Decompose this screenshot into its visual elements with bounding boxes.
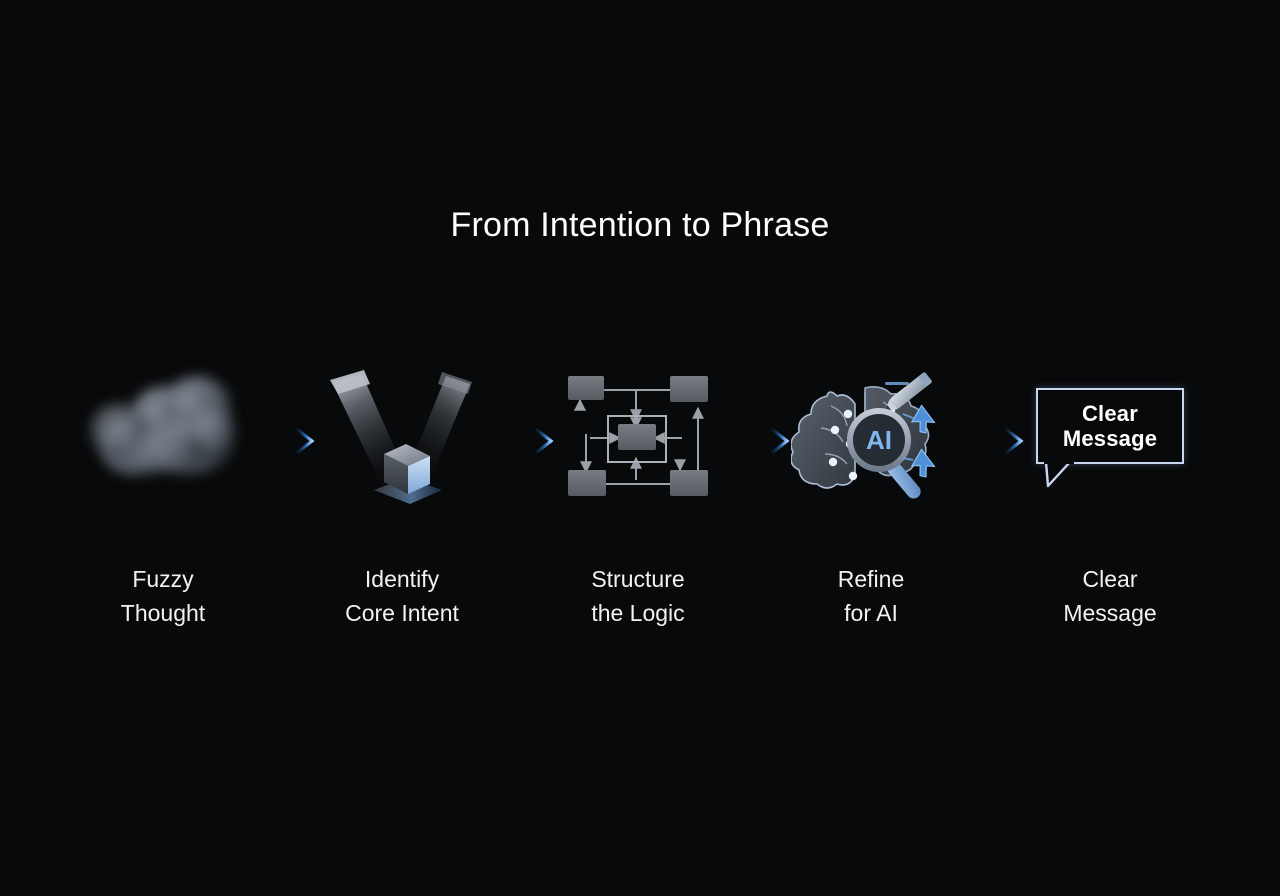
flow-labels: Fuzzy Thought Identify Core Intent Struc… [0, 562, 1280, 642]
right-arrow-icon [489, 424, 561, 458]
label-line-2: Thought [43, 596, 283, 630]
fuzzy-cloud-icon [83, 362, 243, 512]
speech-bubble-tail [1044, 462, 1078, 488]
brain-ai-magnifier-icon: AI [791, 362, 951, 512]
speech-bubble-icon: Clear Message [1030, 362, 1190, 512]
flow-label-fuzzy-thought: Fuzzy Thought [43, 562, 283, 630]
label-line-1: Clear [990, 562, 1230, 596]
flow-diagram: AI Clear [0, 362, 1280, 512]
ai-magnifier-label: AI [866, 425, 892, 455]
flow-label-structure-the-logic: Structure the Logic [518, 562, 758, 630]
speech-bubble-box: Clear Message [1036, 388, 1184, 464]
label-line-2: Core Intent [282, 596, 522, 630]
right-arrow-icon [250, 424, 322, 458]
flow-step-identify-core-intent[interactable] [322, 362, 482, 512]
flow-label-identify-core-intent: Identify Core Intent [282, 562, 522, 630]
label-line-1: Identify [282, 562, 522, 596]
flow-step-fuzzy-thought[interactable] [83, 362, 243, 512]
label-line-1: Structure [518, 562, 758, 596]
flow-label-clear-message: Clear Message [990, 562, 1230, 630]
flow-label-refine-for-ai: Refine for AI [751, 562, 991, 630]
flowchart-diagram-icon [558, 362, 718, 512]
speech-bubble-text: Clear Message [1038, 390, 1182, 462]
flow-step-refine-for-ai[interactable]: AI [791, 362, 951, 512]
slide-canvas: From Intention to Phrase [0, 0, 1280, 896]
page-title: From Intention to Phrase [0, 206, 1280, 245]
bubble-line-1: Clear [1082, 401, 1138, 426]
bubble-line-2: Message [1063, 426, 1157, 451]
label-line-2: the Logic [518, 596, 758, 630]
label-line-2: for AI [751, 596, 991, 630]
spotlight-cube-icon [322, 362, 482, 512]
label-line-1: Fuzzy [43, 562, 283, 596]
right-arrow-icon [725, 424, 797, 458]
right-arrow-icon [959, 424, 1031, 458]
label-line-2: Message [990, 596, 1230, 630]
flow-step-clear-message[interactable]: Clear Message [1030, 362, 1190, 512]
label-line-1: Refine [751, 562, 991, 596]
flow-step-structure-the-logic[interactable] [558, 362, 718, 512]
